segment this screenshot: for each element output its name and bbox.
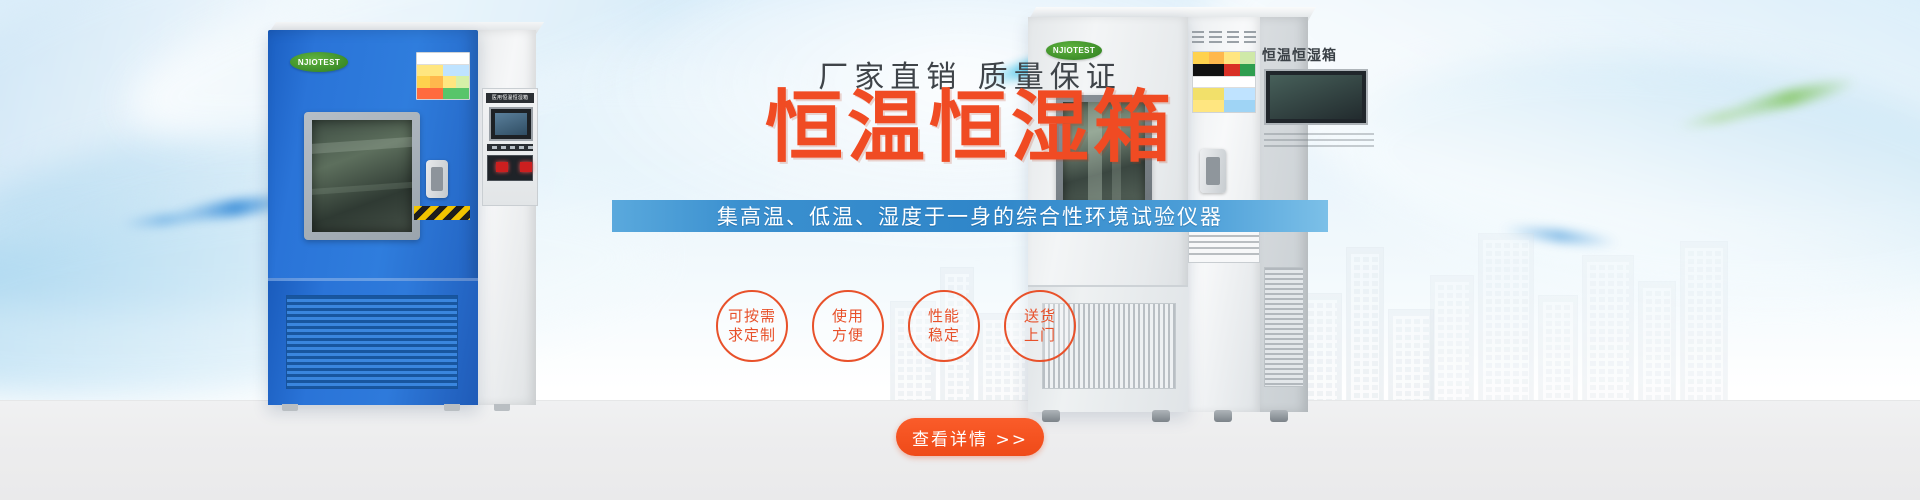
feature-badge-easy-use[interactable]: 使用 方便 (812, 290, 884, 362)
promo-banner: NJIOTEST 医 (0, 0, 1920, 500)
feature-badge-list: 可按需 求定制 使用 方便 性能 稳定 送货 上门 (630, 290, 1290, 362)
left-chamber-vent-grille (286, 295, 458, 389)
banner-subtitle-text: 集高温、低温、湿度于一身的综合性环境试验仪器 (717, 201, 1223, 231)
badge-line-2: 方便 (832, 326, 864, 345)
left-chamber-side-panel (472, 30, 536, 405)
warning-label-icon (416, 52, 470, 100)
right-chamber-nameplate: 恒温恒湿箱 (1262, 45, 1382, 63)
left-chamber-panel-title: 医用恒温恒湿箱 (486, 93, 534, 103)
badge-line-1: 使用 (832, 307, 864, 326)
right-chamber-spec-text (1264, 133, 1374, 149)
brand-logo-icon: NJIOTEST (290, 52, 348, 72)
left-chamber-indicator-dash (487, 155, 533, 181)
banner-subtitle-bar: 集高温、低温、湿度于一身的综合性环境试验仪器 (612, 200, 1328, 232)
view-details-button[interactable]: 查看详情 >> (896, 418, 1044, 456)
feature-badge-stable[interactable]: 性能 稳定 (908, 290, 980, 362)
banner-copy-block: 厂家直销 质量保证 恒温恒湿箱 集高温、低温、湿度于一身的综合性环境试验仪器 可… (660, 0, 1280, 500)
badge-line-2: 上门 (1024, 326, 1056, 345)
left-chamber-viewport (304, 112, 420, 240)
badge-line-2: 求定制 (728, 326, 776, 345)
badge-line-1: 送货 (1024, 307, 1056, 326)
badge-line-1: 可按需 (728, 307, 776, 326)
product-image-left-chamber: NJIOTEST 医 (268, 30, 536, 405)
feature-badge-delivery[interactable]: 送货 上门 (1004, 290, 1076, 362)
left-chamber-display-screen (489, 107, 533, 141)
left-chamber-door-handle (426, 160, 448, 198)
left-chamber-body: NJIOTEST (268, 30, 478, 405)
badge-line-2: 稳定 (928, 326, 960, 345)
hazard-stripe-icon (414, 206, 470, 220)
left-chamber-button-strip (487, 144, 533, 151)
city-skyline-right (1430, 205, 1730, 405)
feature-badge-custom[interactable]: 可按需 求定制 (716, 290, 788, 362)
banner-headline: 恒温恒湿箱 (660, 88, 1280, 168)
left-chamber-lower-unit (268, 278, 478, 405)
cta-container: 查看详情 >> (660, 418, 1280, 456)
badge-line-1: 性能 (928, 307, 960, 326)
left-chamber-glass (312, 120, 412, 232)
left-chamber-control-panel: 医用恒温恒湿箱 (482, 88, 538, 206)
